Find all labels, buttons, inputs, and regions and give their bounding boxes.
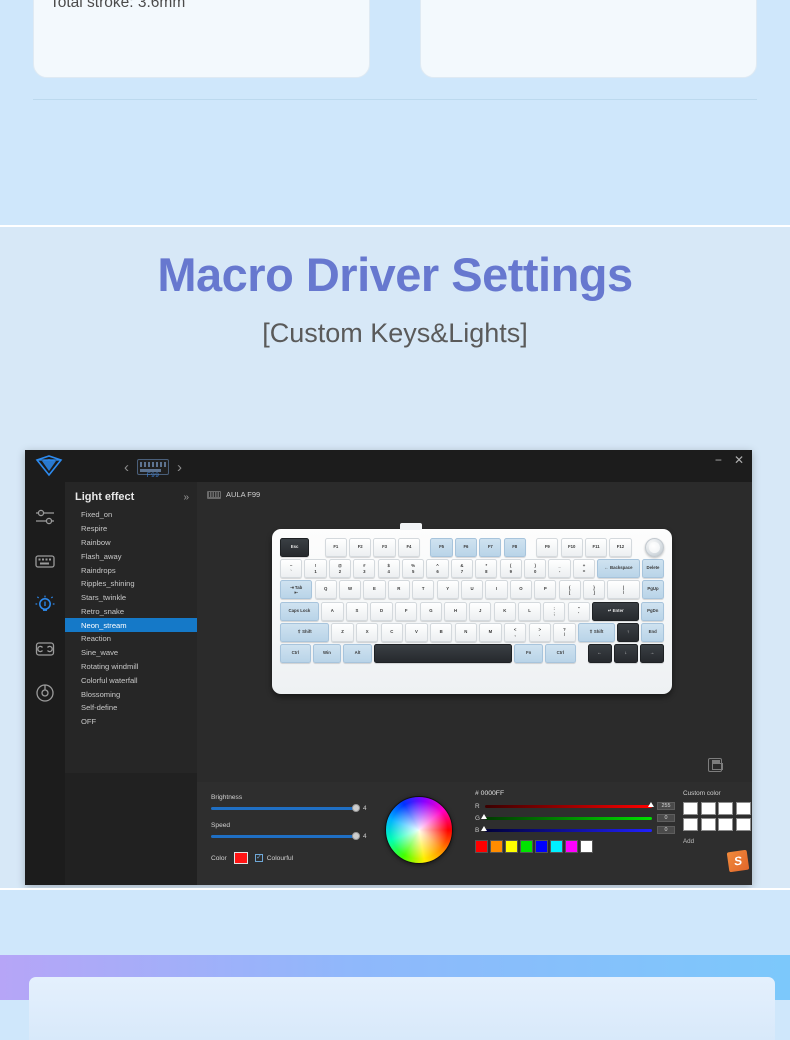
key-f4[interactable]: F4 [398, 538, 420, 557]
keyboard-settings-icon[interactable] [34, 550, 56, 572]
key-e[interactable]: E [363, 580, 385, 599]
key-7[interactable]: &7 [451, 559, 473, 578]
brand-badge: S [727, 850, 750, 873]
channel-value-g[interactable]: 0 [657, 814, 675, 822]
settings-sliders-icon[interactable] [34, 506, 56, 528]
key-6[interactable]: ^6 [426, 559, 448, 578]
preset-color-7[interactable] [580, 840, 593, 853]
channel-slider-b[interactable] [485, 829, 652, 832]
keyboard-graphic[interactable]: EscF1F2F3F4F5F6F7F8F9F10F11F12~`!1@2#3$4… [272, 529, 672, 694]
light-effect-title: Light effect [75, 491, 134, 503]
preset-color-1[interactable] [490, 840, 503, 853]
keyboard-row: CtrlWinAltFnCtrl←↓→ [280, 644, 664, 663]
key-spacer [528, 538, 534, 557]
effect-item-rotating-windmill[interactable]: Rotating windmill [65, 660, 197, 674]
color-row: Color Colourful [211, 852, 371, 864]
effect-item-sine-wave[interactable]: Sine_wave [65, 646, 197, 660]
gradient-banner [0, 955, 790, 1000]
spec-card-right: Total stroke: 3.6mm [420, 0, 757, 78]
effect-item-self-define[interactable]: Self-define [65, 701, 197, 715]
key-p[interactable]: P [534, 580, 556, 599]
key-shift[interactable]: ⇧ Shift [578, 623, 615, 642]
driver-app-window: ‹ › F99 − ✕ [25, 450, 752, 885]
key-caps-lock[interactable]: Caps Lock [280, 602, 319, 621]
effect-item-raindrops[interactable]: Raindrops [65, 563, 197, 577]
colourful-label: Colourful [267, 855, 293, 862]
checkbox-icon[interactable] [255, 854, 263, 862]
key-f1[interactable]: F1 [325, 538, 347, 557]
rgb-row-g: G0 [475, 814, 675, 822]
key-backspace[interactable]: ← Backspace [597, 559, 639, 578]
key-r[interactable]: R [388, 580, 410, 599]
key-1[interactable]: !1 [304, 559, 326, 578]
slider-handle[interactable] [352, 804, 360, 812]
key-blank[interactable]: ↑ [617, 623, 639, 642]
speed-value: 4 [363, 833, 371, 840]
page-root: Bottom pressure: 55gf Total stroke: 3.6m… [0, 0, 790, 1000]
key-blank[interactable]: }] [583, 580, 605, 599]
key-f5[interactable]: F5 [430, 538, 452, 557]
expand-chevron-icon[interactable]: » [183, 492, 189, 503]
key-blank[interactable] [374, 644, 512, 663]
key-blank[interactable]: :; [543, 602, 565, 621]
key-m[interactable]: M [479, 623, 501, 642]
key-enter[interactable]: ↵ Enter [592, 602, 639, 621]
key-alt[interactable]: Alt [343, 644, 371, 663]
key-5[interactable]: %5 [402, 559, 424, 578]
slider-handle[interactable] [481, 814, 487, 819]
spec-line: Total stroke: 3.6mm [50, 0, 353, 19]
color-label: Color [211, 855, 227, 862]
key-j[interactable]: J [469, 602, 491, 621]
keyboard-row: Caps LockASDFGHJKL:;"'↵ EnterPgDn [280, 602, 664, 621]
rgb-row-b: B0 [475, 826, 675, 834]
custom-swatch-5[interactable] [683, 818, 698, 831]
key-tab[interactable]: ⇥ Tab⇤ [280, 580, 312, 599]
key-f10[interactable]: F10 [561, 538, 583, 557]
key-f2[interactable]: F2 [349, 538, 371, 557]
key-esc[interactable]: Esc [280, 538, 309, 557]
brand-logo-icon [33, 454, 65, 478]
key-pgdn[interactable]: PgDn [641, 602, 663, 621]
key-n[interactable]: N [455, 623, 477, 642]
key-f7[interactable]: F7 [479, 538, 501, 557]
key-blank[interactable]: → [640, 644, 664, 663]
key-f8[interactable]: F8 [504, 538, 526, 557]
key-a[interactable]: A [321, 602, 343, 621]
rgb-row-r: R255 [475, 802, 675, 810]
key-t[interactable]: T [412, 580, 434, 599]
device-model-label: F99 [93, 472, 213, 479]
speed-slider[interactable] [211, 835, 357, 837]
preset-colors [475, 840, 675, 853]
key-f12[interactable]: F12 [609, 538, 631, 557]
preset-color-3[interactable] [520, 840, 533, 853]
slider-controls: Brightness 4 Speed 4 Color [211, 794, 371, 864]
key-2[interactable]: @2 [329, 559, 351, 578]
key-blank[interactable]: "' [568, 602, 590, 621]
key-8[interactable]: *8 [475, 559, 497, 578]
spec-card-left: Bottom pressure: 55gf Total stroke: 3.6m… [33, 0, 370, 78]
custom-swatch-6[interactable] [701, 818, 716, 831]
channel-label-g: G [475, 815, 480, 822]
key-fn[interactable]: Fn [514, 644, 542, 663]
key-win[interactable]: Win [313, 644, 341, 663]
page-subtitle: [Custom Keys&Lights] [0, 318, 790, 349]
key-x[interactable]: X [356, 623, 378, 642]
key-ctrl[interactable]: Ctrl [280, 644, 311, 663]
channel-label-b: B [475, 827, 480, 834]
section-divider [33, 99, 757, 100]
volume-knob[interactable] [645, 538, 664, 557]
custom-swatch-2[interactable] [718, 802, 733, 815]
slider-handle[interactable] [481, 826, 487, 831]
key-blank[interactable]: >. [529, 623, 551, 642]
key-v[interactable]: V [405, 623, 427, 642]
effect-item-fixed-on[interactable]: Fixed_on [65, 508, 197, 522]
key-end[interactable]: End [641, 623, 663, 642]
key-spacer [422, 538, 428, 557]
key-s[interactable]: S [346, 602, 368, 621]
channel-label-r: R [475, 803, 480, 810]
speed-label: Speed [211, 822, 371, 829]
key-d[interactable]: D [370, 602, 392, 621]
brightness-slider[interactable] [211, 807, 357, 809]
key-c[interactable]: C [381, 623, 403, 642]
key-o[interactable]: O [510, 580, 532, 599]
color-wheel[interactable] [385, 796, 453, 864]
key-l[interactable]: L [518, 602, 540, 621]
key-blank[interactable]: += [573, 559, 595, 578]
driver-section: Macro Driver Settings [Custom Keys&Light… [0, 225, 790, 888]
channel-value-b[interactable]: 0 [657, 826, 675, 834]
brightness-value: 4 [363, 805, 371, 812]
spacer-section [0, 888, 790, 955]
key-f3[interactable]: F3 [373, 538, 395, 557]
effect-item-ripples-shining[interactable]: Ripples_shining [65, 577, 197, 591]
keyboard-top-tab [400, 523, 422, 530]
key-q[interactable]: Q [315, 580, 337, 599]
key-z[interactable]: Z [331, 623, 353, 642]
key-k[interactable]: K [494, 602, 516, 621]
custom-swatch-1[interactable] [701, 802, 716, 815]
keyboard-icon [207, 491, 221, 499]
preset-color-2[interactable] [505, 840, 518, 853]
channel-value-r[interactable]: 255 [657, 802, 675, 810]
key-h[interactable]: H [444, 602, 466, 621]
nav-rail [25, 482, 65, 885]
effect-item-rainbow[interactable]: Rainbow [65, 536, 197, 550]
speed-row: 4 [211, 833, 371, 840]
key-blank[interactable]: ← [588, 644, 612, 663]
custom-swatch-7[interactable] [718, 818, 733, 831]
add-color-button[interactable]: Add [683, 838, 752, 845]
keyboard-row: EscF1F2F3F4F5F6F7F8F9F10F11F12 [280, 538, 664, 557]
key-f6[interactable]: F6 [455, 538, 477, 557]
key-blank[interactable]: ?/ [553, 623, 575, 642]
key-0[interactable]: )0 [524, 559, 546, 578]
key-blank[interactable]: ↓ [614, 644, 638, 663]
page-title: Macro Driver Settings [0, 247, 790, 302]
device-name: AULA F99 [226, 490, 260, 499]
key-b[interactable]: B [430, 623, 452, 642]
current-color-swatch[interactable] [234, 852, 248, 864]
key-i[interactable]: I [485, 580, 507, 599]
specs-section: Bottom pressure: 55gf Total stroke: 3.6m… [0, 0, 790, 225]
brightness-label: Brightness [211, 794, 371, 801]
key-f9[interactable]: F9 [536, 538, 558, 557]
save-profile-icon[interactable] [708, 758, 722, 772]
key-f[interactable]: F [395, 602, 417, 621]
key-spacer [311, 538, 322, 557]
key-blank[interactable]: <, [504, 623, 526, 642]
key-blank[interactable]: |\ [607, 580, 639, 599]
preset-color-6[interactable] [565, 840, 578, 853]
channel-slider-r[interactable] [485, 805, 652, 808]
effect-item-off[interactable]: OFF [65, 715, 197, 729]
colourful-checkbox[interactable]: Colourful [255, 854, 293, 862]
preset-color-0[interactable] [475, 840, 488, 853]
custom-color-panel: Custom color Add [683, 790, 752, 845]
effect-item-respire[interactable]: Respire [65, 522, 197, 536]
key-g[interactable]: G [420, 602, 442, 621]
minimize-icon[interactable]: − [715, 453, 722, 467]
custom-swatch-3[interactable] [736, 802, 751, 815]
effect-item-stars-twinkle[interactable]: Stars_twinkle [65, 591, 197, 605]
preview-device-label: AULA F99 [207, 490, 260, 499]
close-icon[interactable]: ✕ [734, 453, 744, 467]
key-pgup[interactable]: PgUp [642, 580, 664, 599]
key-y[interactable]: Y [437, 580, 459, 599]
light-effect-panel: Light effect » Fixed_onRespireRainbowFla… [65, 482, 197, 773]
key-4[interactable]: $4 [378, 559, 400, 578]
key-f11[interactable]: F11 [585, 538, 607, 557]
rgb-panel: # 0000FF R255G0B0 [475, 790, 675, 853]
channel-slider-g[interactable] [485, 817, 652, 820]
effect-item-retro-snake[interactable]: Retro_snake [65, 604, 197, 618]
app-titlebar: ‹ › F99 − ✕ [25, 450, 752, 482]
keyboard-keys: EscF1F2F3F4F5F6F7F8F9F10F11F12~`!1@2#3$4… [280, 538, 664, 686]
key-w[interactable]: W [339, 580, 361, 599]
gradient-card [29, 977, 775, 1040]
slider-handle[interactable] [352, 832, 360, 840]
key-u[interactable]: U [461, 580, 483, 599]
key-ctrl[interactable]: Ctrl [545, 644, 576, 663]
keyboard-row: ~`!1@2#3$4%5^6&7*8(9)0_-+=← BackspaceDel… [280, 559, 664, 578]
window-buttons: − ✕ [715, 453, 744, 467]
keyboard-preview-area: AULA F99 EscF1F2F3F4F5F6F7F8F9F10F11F12~… [197, 482, 752, 782]
effect-item-reaction[interactable]: Reaction [65, 632, 197, 646]
custom-swatch-grid [683, 802, 752, 831]
keyboard-row: ⇥ Tab⇤QWERTYUIOP{[}]|\PgUp [280, 580, 664, 599]
preset-color-4[interactable] [535, 840, 548, 853]
key-shift[interactable]: ⇧ Shift [280, 623, 329, 642]
brightness-row: 4 [211, 805, 371, 812]
key-3[interactable]: #3 [353, 559, 375, 578]
effect-item-blossoming[interactable]: Blossoming [65, 687, 197, 701]
light-effect-header: Light effect » [65, 488, 197, 508]
slider-handle[interactable] [648, 802, 654, 807]
effect-item-colorful-waterfall[interactable]: Colorful waterfall [65, 673, 197, 687]
macro-icon[interactable] [34, 638, 56, 660]
effect-item-flash-away[interactable]: Flash_away [65, 549, 197, 563]
key-9[interactable]: (9 [500, 559, 522, 578]
target-icon[interactable] [34, 682, 56, 704]
light-effect-icon[interactable] [34, 594, 56, 616]
custom-color-title: Custom color [683, 790, 752, 797]
key-spacer [578, 644, 586, 663]
keyboard-row: ⇧ ShiftZXCVBNM<,>.?/⇧ Shift↑End [280, 623, 664, 642]
preset-color-5[interactable] [550, 840, 563, 853]
custom-swatch-8[interactable] [736, 818, 751, 831]
lighting-controls: Brightness 4 Speed 4 Color [197, 782, 752, 885]
key-blank[interactable]: _- [548, 559, 570, 578]
key-blank[interactable]: ~` [280, 559, 302, 578]
key-blank[interactable]: {[ [559, 580, 581, 599]
hex-value: # 0000FF [475, 790, 675, 797]
key-delete[interactable]: Delete [642, 559, 664, 578]
effect-item-neon-stream[interactable]: Neon_stream [65, 618, 197, 632]
custom-swatch-0[interactable] [683, 802, 698, 815]
